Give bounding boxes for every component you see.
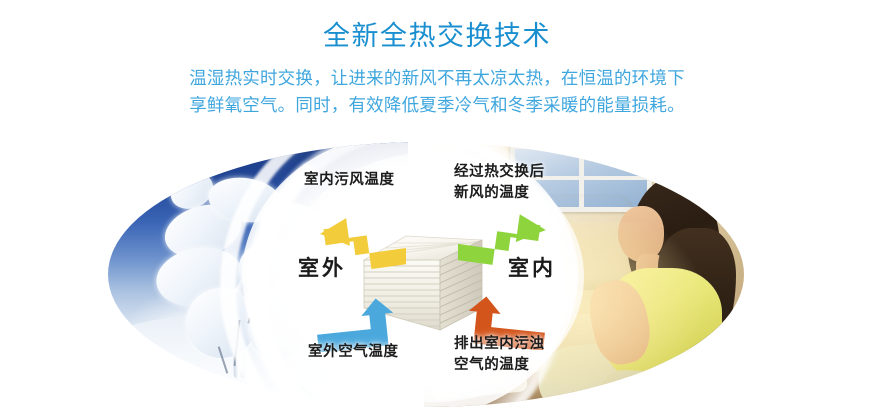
label-exhaust-out-line-2: 空气的温度	[454, 355, 545, 376]
label-exhaust-out-line-1: 排出室内污浊	[454, 334, 545, 355]
woman-leg-lower	[597, 369, 727, 407]
label-indoor-exhaust-temperature: 室内污风温度	[304, 170, 395, 191]
header: 全新全热交换技术 温湿热实时交换，让进来的新风不再太凉太热，在恒温的环境下 享鲜…	[0, 0, 874, 119]
zone-label-indoor: 室内	[508, 252, 556, 282]
seated-woman	[574, 176, 744, 407]
diagram-circle: 室内污风温度 经过热交换后 新风的温度 室外空气温度 排出室内污浊 空气的温度 …	[108, 142, 744, 407]
label-outdoor-air-line-1: 室外空气温度	[308, 342, 399, 363]
page-title: 全新全热交换技术	[0, 0, 874, 52]
label-exhaust-air-temperature: 排出室内污浊 空气的温度	[454, 334, 545, 375]
label-indoor-exhaust-line-1: 室内污风温度	[304, 170, 395, 191]
subtitle-line-1: 温湿热实时交换，让进来的新风不再太凉太热，在恒温的环境下	[0, 65, 874, 92]
label-after-exchange-line-2: 新风的温度	[454, 183, 545, 204]
label-outdoor-air-temperature: 室外空气温度	[308, 342, 399, 363]
label-after-exchange-line-1: 经过热交换后	[454, 162, 545, 183]
heat-exchange-diagram: 室内污风温度 经过热交换后 新风的温度 室外空气温度 排出室内污浊 空气的温度 …	[108, 142, 744, 407]
subtitle-line-2: 享鲜氧空气。同时，有效降低夏季冷气和冬季采暖的能量损耗。	[0, 92, 874, 119]
page-subtitle: 温湿热实时交换，让进来的新风不再太凉太热，在恒温的环境下 享鲜氧空气。同时，有效…	[0, 52, 874, 119]
label-after-exchange-temperature: 经过热交换后 新风的温度	[454, 162, 545, 203]
zone-label-outdoor: 室外	[298, 252, 346, 282]
